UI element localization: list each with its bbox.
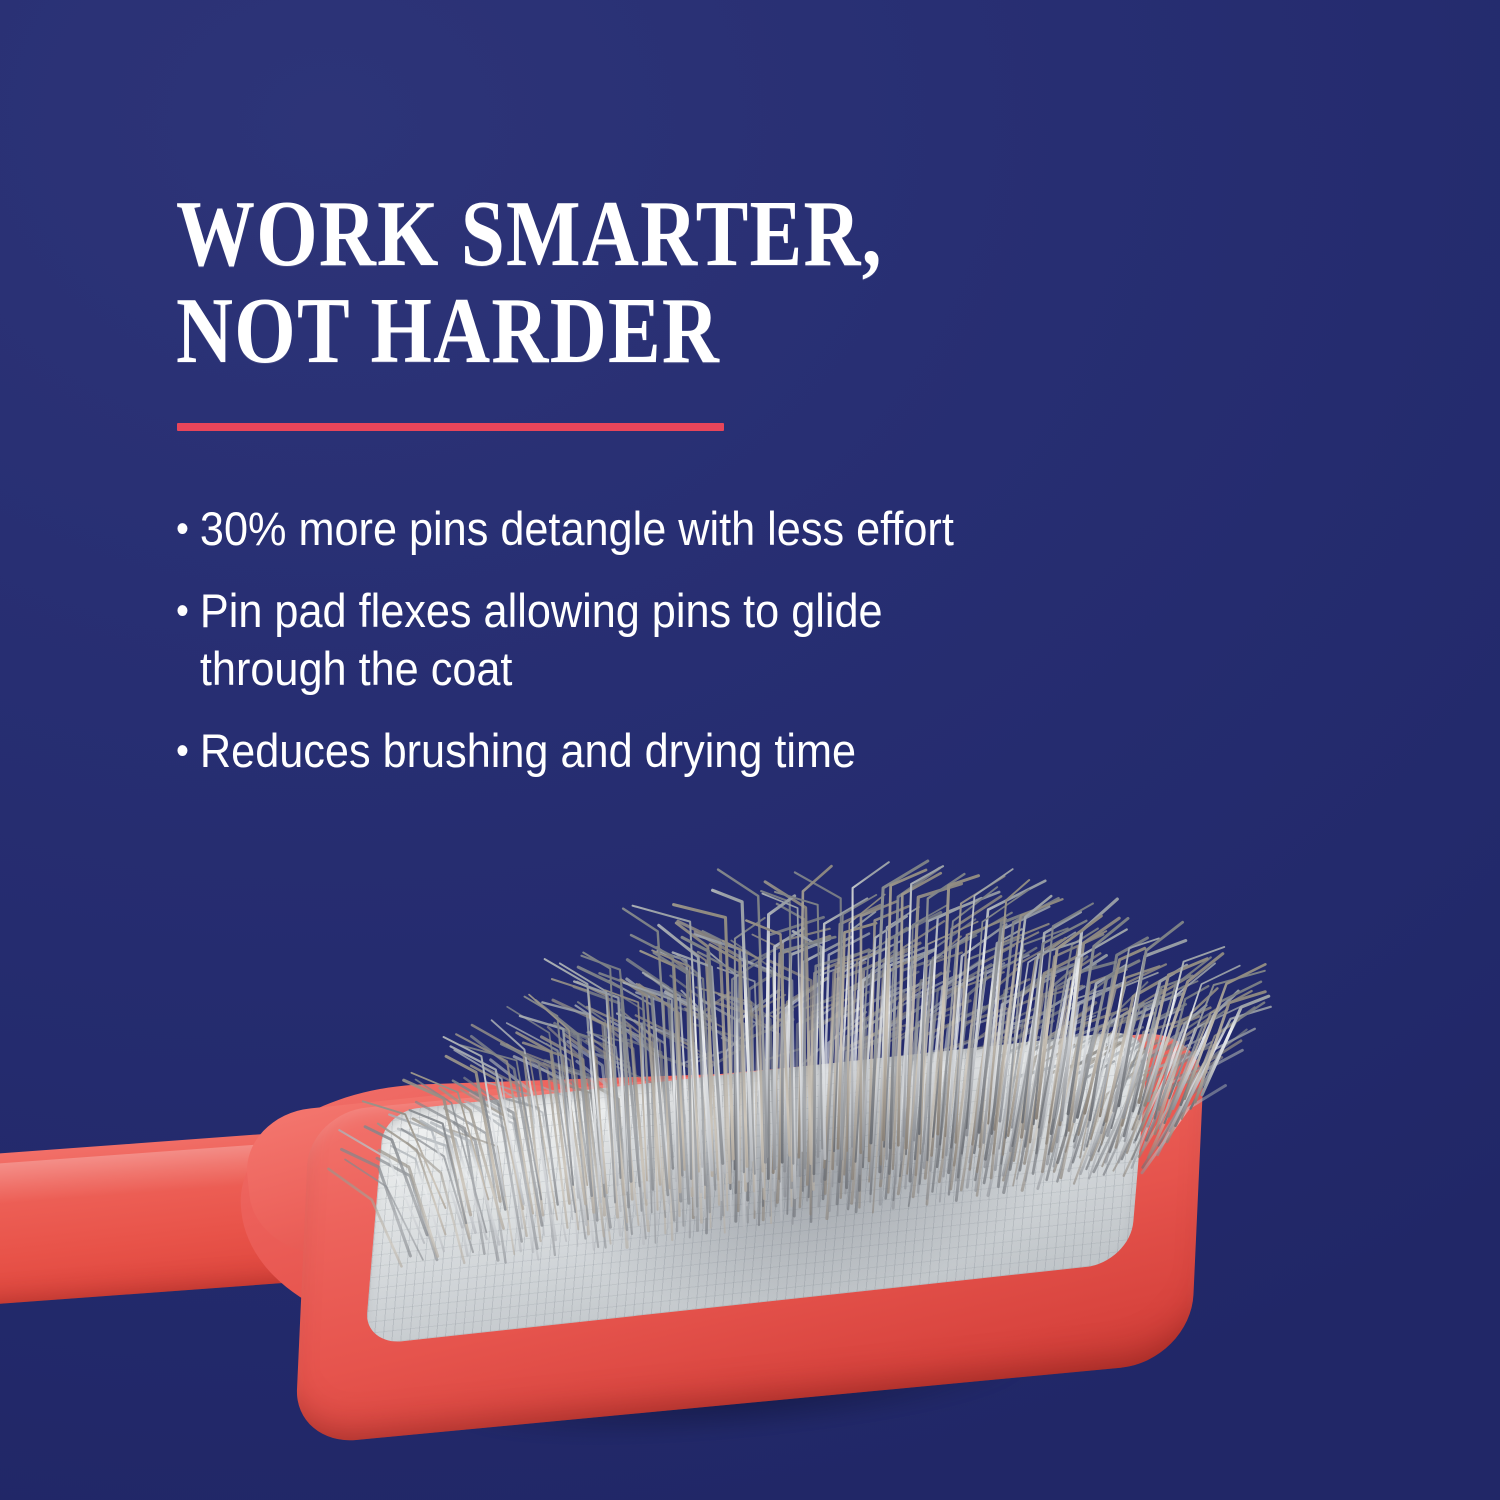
list-item-label: 30% more pins detangle with less effort [200, 500, 1004, 558]
product-feature-panel: WORK SMARTER, NOT HARDER • 30% more pins… [0, 0, 1500, 1500]
list-item: • 30% more pins detangle with less effor… [176, 500, 1004, 558]
bullet-dot-icon: • [176, 500, 200, 558]
accent-divider [177, 423, 724, 431]
product-image-slicker-brush [0, 780, 1500, 1500]
feature-bullet-list: • 30% more pins detangle with less effor… [176, 500, 1076, 804]
brush-pins [0, 780, 1500, 1500]
page-title: WORK SMARTER, NOT HARDER [176, 186, 1100, 380]
list-item-label: Reduces brushing and drying time [200, 722, 1004, 780]
list-item: • Reduces brushing and drying time [176, 722, 1004, 780]
bullet-dot-icon: • [176, 722, 200, 780]
list-item: • Pin pad flexes allowing pins to glide … [176, 582, 1004, 698]
list-item-label: Pin pad flexes allowing pins to glide th… [200, 582, 1004, 698]
bullet-dot-icon: • [176, 582, 200, 640]
